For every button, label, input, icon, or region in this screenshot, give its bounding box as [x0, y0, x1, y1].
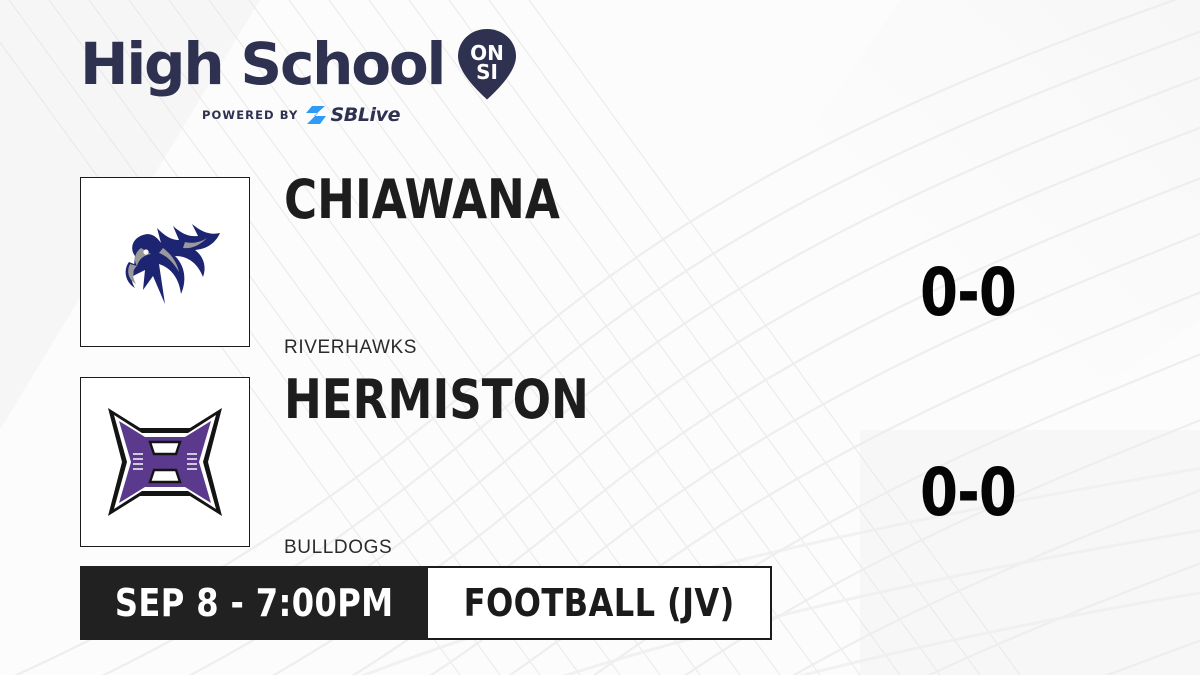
game-info-bar: SEP 8 - 7:00PM FOOTBALL (JV) [80, 566, 772, 640]
team-score: 0-0 [920, 460, 1016, 526]
sblive-bolt-icon [305, 105, 327, 125]
map-pin-icon: ON SI [456, 27, 518, 101]
team-name: CHIAWANA [284, 173, 560, 227]
powered-by-label: POWERED BY [202, 108, 298, 122]
riverhawk-head-logo [95, 192, 235, 332]
hermiston-h-logo [100, 402, 230, 522]
sblive-wordmark: SBLive [330, 104, 400, 126]
team-mascot: BULLDOGS [284, 537, 392, 559]
game-sport-panel: FOOTBALL (JV) [428, 566, 772, 640]
brand-title: High School [80, 35, 444, 93]
brand-header: High School ON SI POWERED BY SBLive [80, 28, 520, 138]
scoreboard-card: High School ON SI POWERED BY SBLive [0, 0, 1200, 675]
game-sport-text: FOOTBALL (JV) [464, 581, 735, 625]
powered-by-lockup: POWERED BY SBLive [202, 104, 520, 126]
team-score: 0-0 [920, 260, 1016, 326]
onsi-line2: SI [476, 60, 498, 84]
game-datetime-text: SEP 8 - 7:00PM [115, 581, 394, 625]
team-logo-box [80, 177, 250, 347]
team-logo-box [80, 377, 250, 547]
team-name: HERMISTON [284, 373, 589, 427]
game-datetime-panel: SEP 8 - 7:00PM [80, 566, 428, 640]
sblive-logo: SBLive [305, 104, 400, 126]
team-mascot: RIVERHAWKS [284, 337, 417, 359]
brand-wordmark: High School ON SI [80, 28, 520, 100]
